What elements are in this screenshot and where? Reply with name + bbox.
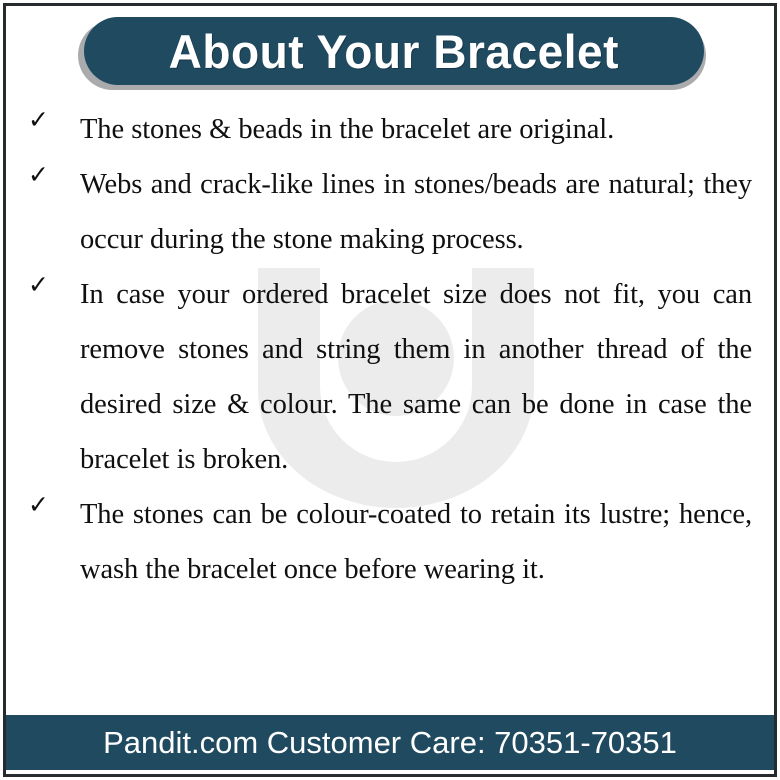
list-item: ✓ In case your ordered bracelet size doe…	[0, 267, 780, 487]
list-item: ✓ The stones & beads in the bracelet are…	[0, 102, 780, 157]
list-item: ✓ The stones can be colour-coated to ret…	[0, 487, 780, 597]
list-item-text: The stones & beads in the bracelet are o…	[80, 102, 752, 157]
list-item-text: The stones can be colour-coated to retai…	[80, 487, 752, 597]
check-icon: ✓	[28, 107, 54, 132]
check-icon: ✓	[28, 272, 54, 297]
bracelet-info-list: ✓ The stones & beads in the bracelet are…	[0, 102, 780, 597]
footer-bar: Pandit.com Customer Care: 70351-70351	[6, 715, 774, 770]
check-icon: ✓	[28, 162, 54, 187]
customer-care-text: Pandit.com Customer Care: 70351-70351	[103, 727, 677, 758]
about-your-bracelet-card: About Your Bracelet ✓ The stones & beads…	[0, 0, 780, 780]
check-icon: ✓	[28, 492, 54, 517]
list-item-text: In case your ordered bracelet size does …	[80, 267, 752, 487]
page-title: About Your Bracelet	[169, 28, 619, 75]
list-item-text: Webs and crack-like lines in stones/bead…	[80, 157, 752, 267]
header-pill: About Your Bracelet	[84, 17, 704, 85]
header: About Your Bracelet	[0, 14, 780, 90]
list-item: ✓ Webs and crack-like lines in stones/be…	[0, 157, 780, 267]
